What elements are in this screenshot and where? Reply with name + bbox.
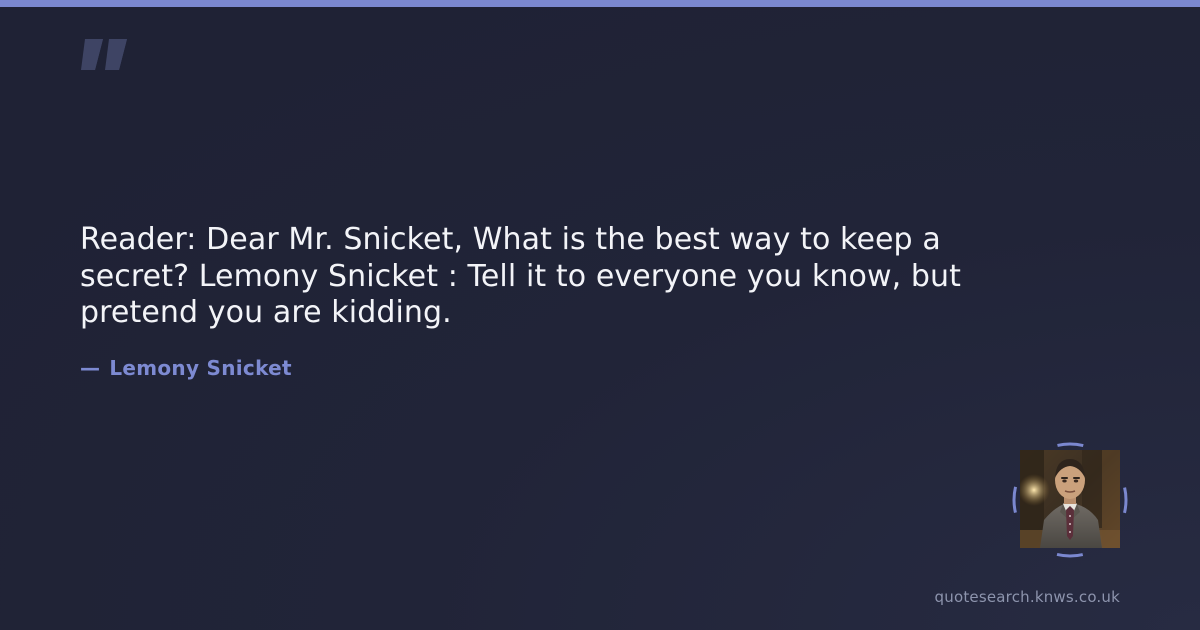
quote-text: Reader: Dear Mr. Snicket, What is the be… bbox=[80, 222, 1020, 332]
quote-body: Reader: Dear Mr. Snicket, What is the be… bbox=[80, 222, 1020, 332]
author-thumbnail-container[interactable] bbox=[1006, 436, 1134, 564]
double-quote-icon bbox=[79, 24, 149, 94]
source-url[interactable]: quotesearch.knws.co.uk bbox=[935, 588, 1120, 606]
quote-card: Reader: Dear Mr. Snicket, What is the be… bbox=[0, 0, 1200, 630]
attribution-dash: — bbox=[80, 356, 100, 380]
attribution: —Lemony Snicket bbox=[80, 356, 292, 380]
author-portrait-image bbox=[1020, 450, 1120, 548]
attribution-author: Lemony Snicket bbox=[109, 356, 292, 380]
top-accent-bar bbox=[0, 0, 1200, 7]
